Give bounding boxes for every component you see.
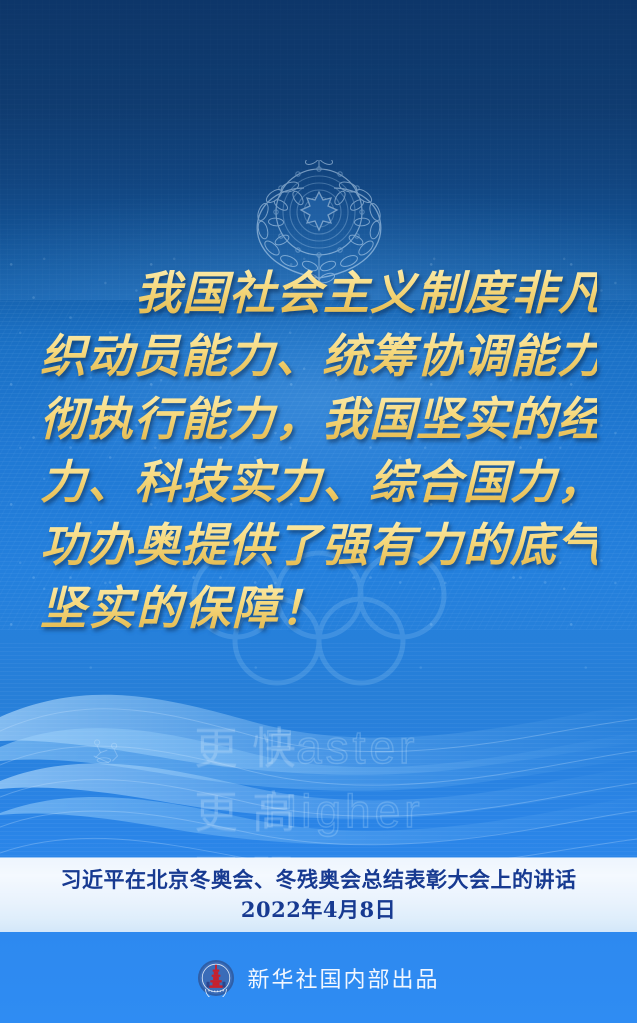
top-vignette [0,0,637,330]
footer-bar: 新华社国内部出品 [0,932,637,1023]
caption-bar: 习近平在北京冬奥会、冬残奥会总结表彰大会上的讲话 2022年4月8日 [0,858,637,932]
caption-title: 习近平在北京冬奥会、冬残奥会总结表彰大会上的讲话 [61,867,577,893]
footer-text: 新华社国内部出品 [247,962,439,994]
caption-date: 2022年4月8日 [241,896,396,923]
poster-image: 更快 Faster 更高 Higher 更强 Stronger 更团结 Toge… [0,0,637,1023]
xinhua-news-agency-logo [197,959,235,997]
